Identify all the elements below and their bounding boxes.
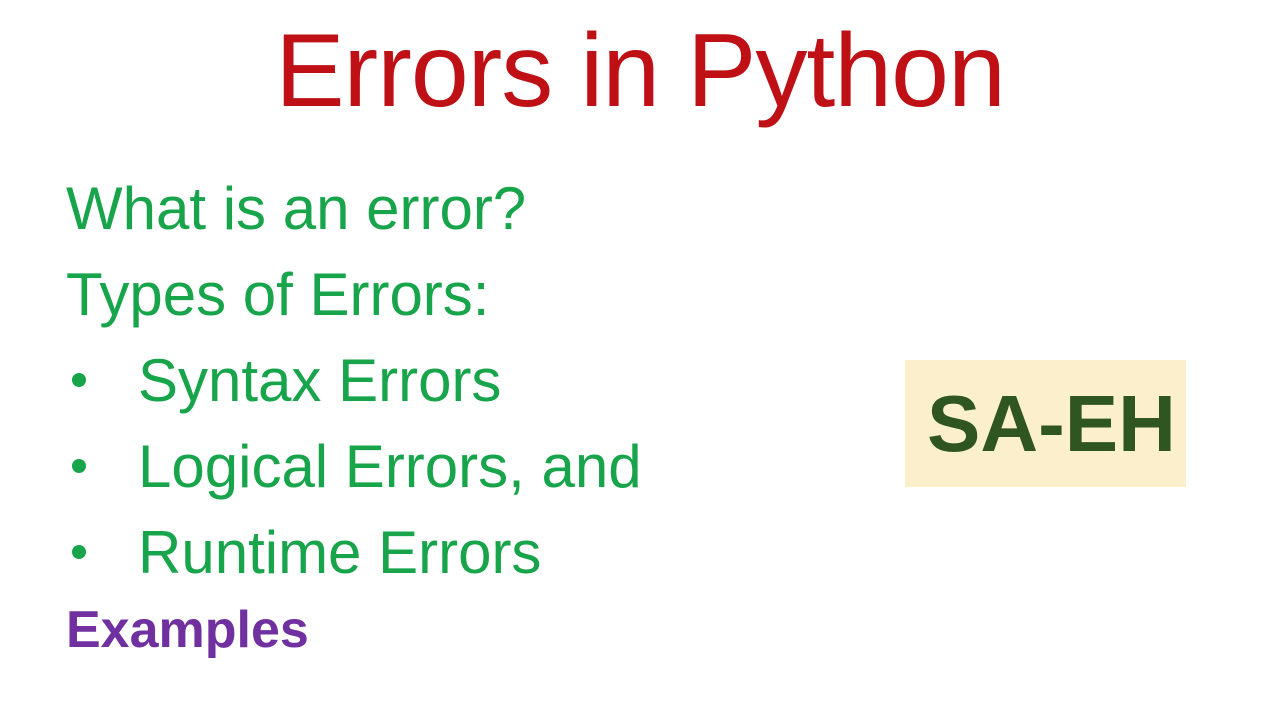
list-item-label: Runtime Errors bbox=[138, 510, 541, 596]
examples-heading: Examples bbox=[66, 598, 309, 662]
slide-canvas: Errors in Python What is an error? Types… bbox=[0, 0, 1280, 720]
body-line-types-heading: Types of Errors: bbox=[66, 252, 846, 338]
page-title: Errors in Python bbox=[0, 6, 1280, 136]
list-item: Runtime Errors bbox=[66, 510, 846, 596]
list-item-label: Logical Errors, and bbox=[138, 424, 642, 510]
body-line-question: What is an error? bbox=[66, 166, 846, 252]
body-content: What is an error? Types of Errors: Synta… bbox=[66, 166, 846, 596]
list-item: Syntax Errors bbox=[66, 338, 846, 424]
list-item: Logical Errors, and bbox=[66, 424, 846, 510]
list-item-label: Syntax Errors bbox=[138, 338, 501, 424]
watermark-logo: SA-EH bbox=[905, 360, 1186, 487]
watermark-logo-label: SA-EH bbox=[927, 378, 1176, 470]
